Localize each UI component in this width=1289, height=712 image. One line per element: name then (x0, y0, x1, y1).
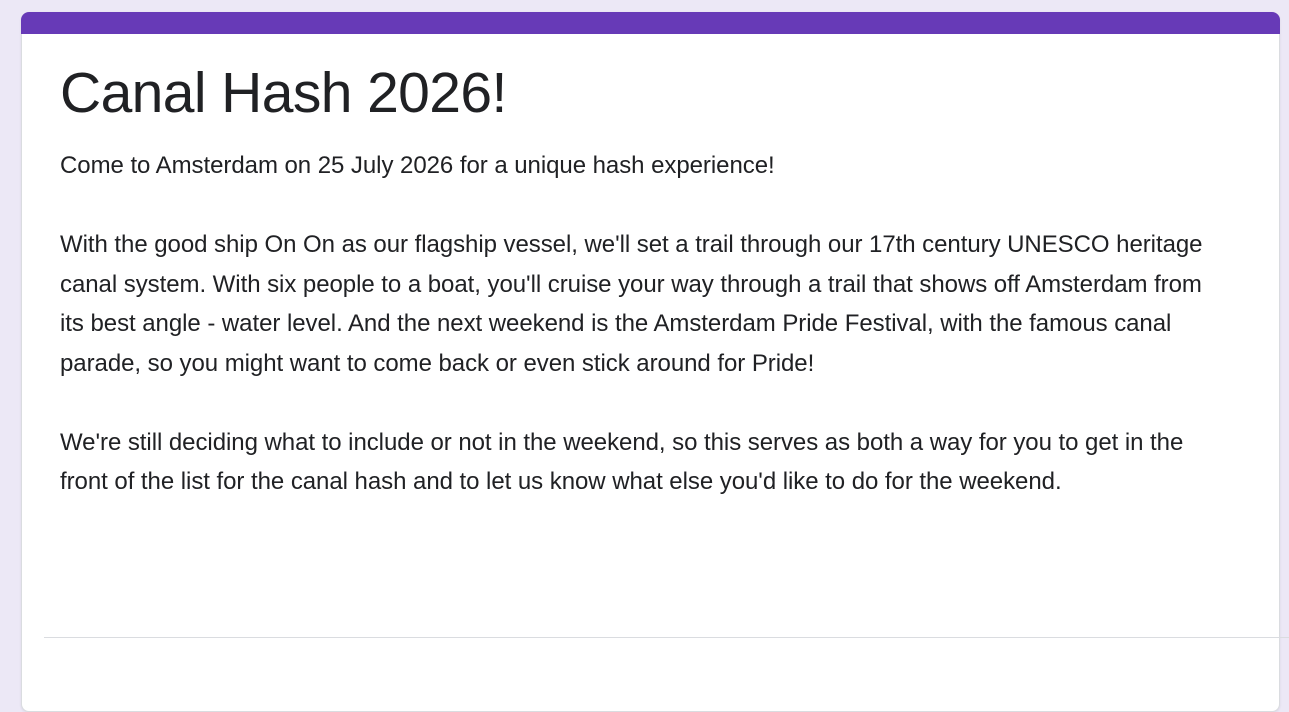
form-description: Come to Amsterdam on 25 July 2026 for a … (60, 146, 1218, 502)
form-title: Canal Hash 2026! (60, 34, 1241, 126)
form-header-card: Canal Hash 2026! Come to Amsterdam on 25… (21, 12, 1280, 712)
description-paragraph-3: We're still deciding what to include or … (60, 423, 1218, 502)
description-paragraph-1: Come to Amsterdam on 25 July 2026 for a … (60, 146, 1218, 186)
paragraph-spacer (60, 383, 1218, 423)
section-divider (44, 637, 1289, 638)
form-accent-bar (21, 12, 1280, 34)
description-paragraph-2: With the good ship On On as our flagship… (60, 225, 1218, 383)
paragraph-spacer (60, 186, 1218, 226)
form-header-content: Canal Hash 2026! Come to Amsterdam on 25… (22, 34, 1279, 502)
